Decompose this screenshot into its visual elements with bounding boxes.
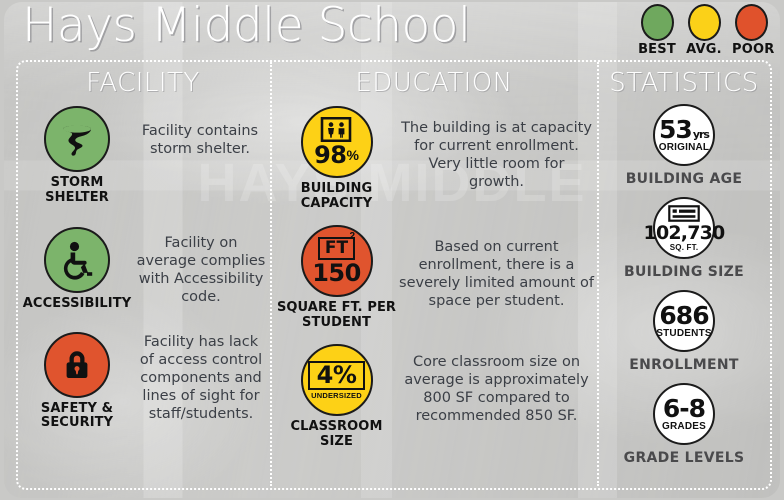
facility-item-accessibility: ACCESSIBILITY Facility on average compli… <box>18 227 268 312</box>
stat-circle-grade-levels: 6-8 GRADES <box>653 383 715 445</box>
education-item-square-ft-per-student: FT 2 150 SQUARE FT. PER STUDENT Based on… <box>274 225 594 330</box>
tornado-icon <box>55 117 99 161</box>
page-title: Hays Middle School <box>22 0 471 53</box>
stat-main-group-grade-levels: 6-8 <box>663 396 705 421</box>
stat-circle-building-age: 53yrs ORIGINAL <box>653 104 715 166</box>
safety-security-badge <box>44 332 110 398</box>
legend-dot-poor <box>735 4 768 41</box>
column-title-education: EDUCATION <box>274 68 594 98</box>
badge-wrap-accessibility: ACCESSIBILITY <box>18 227 136 312</box>
lock-icon <box>57 345 97 385</box>
header: Hays Middle School BEST AVG. POOR <box>0 0 784 58</box>
square-ft-badge: FT 2 150 <box>301 225 373 297</box>
building-capacity-unit: % <box>346 148 358 162</box>
badge-wrap-square-ft: FT 2 150 SQUARE FT. PER STUDENT <box>274 225 399 330</box>
desc-safety-security: Facility has lack of access control comp… <box>136 332 268 424</box>
stat-main-group-building-size: 102,730 <box>644 224 725 243</box>
classroom-size-value: 4% <box>317 361 357 389</box>
undersized-icon: 4% <box>308 361 366 390</box>
caption-square-ft: SQUARE FT. PER STUDENT <box>274 301 399 330</box>
classroom-size-content: 4% UNDERSIZED <box>308 361 366 400</box>
storm-shelter-badge <box>44 106 110 172</box>
stat-circle-enrollment: 686 STUDENTS <box>653 290 715 352</box>
desc-classroom-size: Core classroom size on average is approx… <box>399 344 594 426</box>
square-feet-icon: FT 2 <box>318 237 355 261</box>
stat-item-grade-levels: 6-8 GRADES GRADE LEVELS <box>600 383 768 466</box>
classroom-size-badge: 4% UNDERSIZED <box>301 344 373 416</box>
desc-building-capacity: The building is at capacity for current … <box>399 106 594 192</box>
stat-label-enrollment: ENROLLMENT <box>600 357 768 373</box>
stat-main-group-enrollment: 686 <box>659 303 708 328</box>
badge-wrap-classroom-size: 4% UNDERSIZED CLASSROOM SIZE <box>274 344 399 449</box>
building-capacity-badge: 98% <box>301 106 373 178</box>
stat-label-building-size: BUILDING SIZE <box>600 264 768 280</box>
badge-wrap-storm-shelter: STORM SHELTER <box>18 106 136 205</box>
divider-education-statistics <box>597 62 599 486</box>
stat-main-group-building-age: 53yrs <box>659 117 709 142</box>
facility-item-storm-shelter: STORM SHELTER Facility contains storm sh… <box>18 106 268 205</box>
classroom-size-sub: UNDERSIZED <box>311 392 362 400</box>
stat-label-building-age: BUILDING AGE <box>600 171 768 187</box>
occupancy-icon <box>320 117 352 142</box>
education-item-building-capacity: 98% BUILDING CAPACITY The building is at… <box>274 106 594 211</box>
legend-item-poor: POOR <box>732 4 770 57</box>
caption-building-capacity: BUILDING CAPACITY <box>274 182 399 211</box>
stat-value-grade-levels: 6-8 <box>663 396 705 421</box>
accessibility-badge <box>44 227 110 293</box>
divider-facility-education <box>270 62 272 486</box>
stat-sub-enrollment: STUDENTS <box>656 329 712 339</box>
desc-square-ft: Based on current enrollment, there is a … <box>399 225 594 311</box>
legend-label-poor: POOR <box>732 42 770 57</box>
building-capacity-content: 98% <box>314 117 359 167</box>
square-ft-icon-superscript: 2 <box>350 232 356 242</box>
desc-accessibility: Facility on average complies with Access… <box>136 227 268 307</box>
legend-dot-avg <box>688 4 721 41</box>
caption-storm-shelter: STORM SHELTER <box>18 176 136 205</box>
column-education: EDUCATION <box>274 62 594 486</box>
education-item-classroom-size: 4% UNDERSIZED CLASSROOM SIZE Core classr… <box>274 344 594 449</box>
stat-value-building-age: 53 <box>659 117 692 142</box>
column-statistics: STATISTICS 53yrs ORIGINAL BUILDING AGE <box>600 62 768 486</box>
building-capacity-value: 98 <box>314 143 346 167</box>
square-ft-value: 150 <box>312 261 361 285</box>
caption-accessibility: ACCESSIBILITY <box>18 297 136 312</box>
desc-storm-shelter: Facility contains storm shelter. <box>136 106 268 159</box>
stat-value-enrollment: 686 <box>659 303 708 328</box>
column-title-statistics: STATISTICS <box>600 68 768 98</box>
wheelchair-icon <box>56 239 98 281</box>
legend: BEST AVG. POOR <box>638 4 770 57</box>
legend-label-avg: AVG. <box>685 42 723 57</box>
building-icon <box>668 205 700 222</box>
badge-wrap-building-capacity: 98% BUILDING CAPACITY <box>274 106 399 211</box>
legend-label-best: BEST <box>638 42 676 57</box>
stat-sub-building-age: ORIGINAL <box>659 143 710 153</box>
stat-sub-building-size: SQ. FT. <box>670 244 699 252</box>
stat-label-grade-levels: GRADE LEVELS <box>600 450 768 466</box>
caption-safety-security: SAFETY & SECURITY <box>18 402 136 431</box>
caption-classroom-size: CLASSROOM SIZE <box>274 420 399 449</box>
stat-item-building-size: 102,730 SQ. FT. BUILDING SIZE <box>600 197 768 280</box>
building-capacity-value-group: 98% <box>314 143 359 167</box>
stat-item-enrollment: 686 STUDENTS ENROLLMENT <box>600 290 768 373</box>
stat-sub-grade-levels: GRADES <box>662 422 706 432</box>
square-ft-content: FT 2 150 <box>312 237 361 286</box>
badge-wrap-safety-security: SAFETY & SECURITY <box>18 332 136 431</box>
legend-item-avg: AVG. <box>685 4 723 57</box>
stat-value-building-size: 102,730 <box>644 224 725 243</box>
legend-item-best: BEST <box>638 4 676 57</box>
stat-circle-building-size: 102,730 SQ. FT. <box>653 197 715 259</box>
column-facility: FACILITY STORM SHELTER Facility contains… <box>18 62 268 486</box>
stat-suffix-building-age: yrs <box>693 129 709 140</box>
facility-item-safety-security: SAFETY & SECURITY Facility has lack of a… <box>18 332 268 431</box>
stat-item-building-age: 53yrs ORIGINAL BUILDING AGE <box>600 104 768 187</box>
legend-dot-best <box>641 4 674 41</box>
column-title-facility: FACILITY <box>18 68 268 98</box>
infographic-root: HAYS MIDDLE Hays Middle School BEST AVG.… <box>0 0 784 500</box>
